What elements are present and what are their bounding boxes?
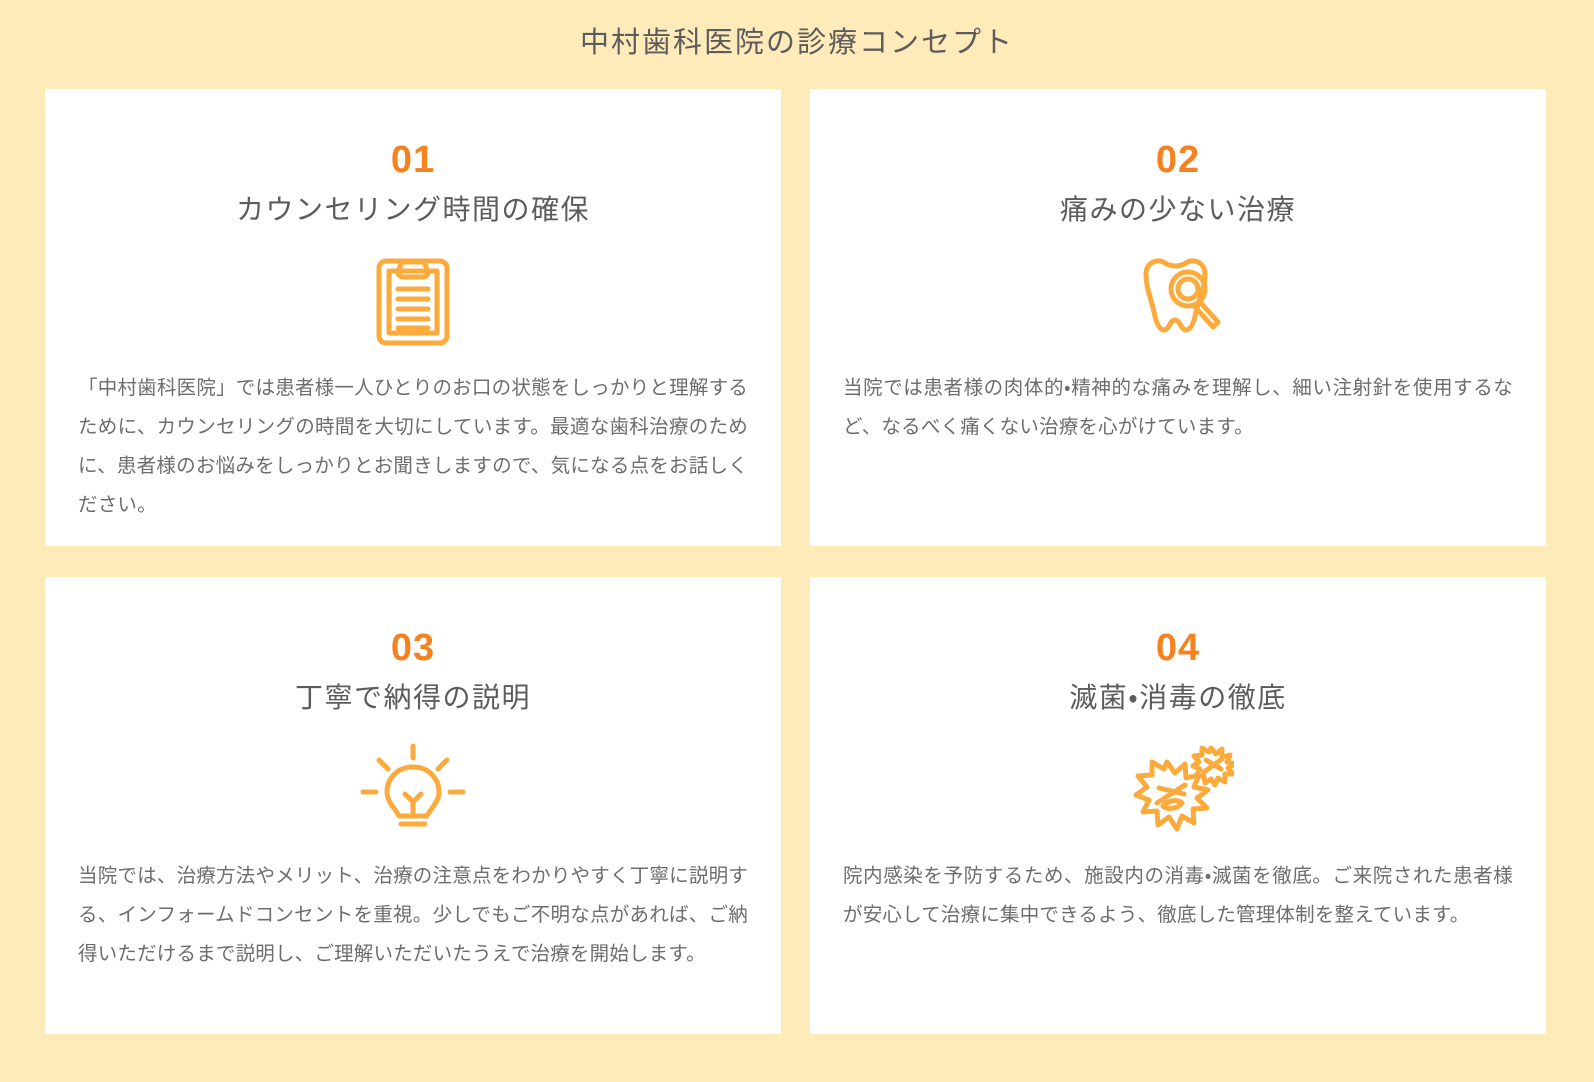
page-title: 中村歯科医院の診療コンセプト [0, 0, 1594, 61]
card-number: 02 [1156, 141, 1200, 179]
card-body: 当院では、治療方法やメリット、治療の注意点をわかりやすく丁寧に説明する、インフォ… [78, 857, 748, 974]
lightbulb-icon [357, 740, 469, 836]
concept-page: 中村歯科医院の診療コンセプト 01 カウンセリング時間の確保 「中村歯科医院」で… [0, 0, 1594, 1082]
card-number: 04 [1156, 629, 1200, 667]
germ-icon [1122, 740, 1234, 836]
card-title: カウンセリング時間の確保 [236, 192, 590, 228]
card-title: 痛みの少ない治療 [1060, 192, 1296, 228]
clipboard-icon [373, 252, 453, 348]
tooth-magnifier-icon [1128, 252, 1228, 348]
concept-card-03: 03 丁寧で納得の説明 当院では、治療方法やメリット、治療の注意点をわかりやすく… [45, 577, 781, 1034]
card-number: 01 [391, 141, 435, 179]
concept-card-02: 02 痛みの少ない治療 当院では患者様の肉体的・精神的な痛みを理解し、細い注射針… [810, 89, 1546, 546]
card-body: 院内感染を予防するため、施設内の消毒・滅菌を徹底。ご来院された患者様が安心して治… [843, 857, 1513, 935]
concept-card-01: 01 カウンセリング時間の確保 「中村歯科医院」では患者様一人ひとりのお口の状態… [45, 89, 781, 546]
card-body: 「中村歯科医院」では患者様一人ひとりのお口の状態をしっかりと理解するために、カウ… [78, 369, 748, 525]
concept-card-grid: 01 カウンセリング時間の確保 「中村歯科医院」では患者様一人ひとりのお口の状態… [45, 89, 1546, 1034]
card-title: 丁寧で納得の説明 [295, 680, 531, 716]
card-body: 当院では患者様の肉体的・精神的な痛みを理解し、細い注射針を使用するなど、なるべく… [843, 369, 1513, 447]
concept-card-04: 04 滅菌・消毒の徹底 院内感染を予防するため、施設内の消毒・滅菌を徹底。ご来院… [810, 577, 1546, 1034]
card-title: 滅菌・消毒の徹底 [1069, 680, 1287, 716]
card-number: 03 [391, 629, 435, 667]
